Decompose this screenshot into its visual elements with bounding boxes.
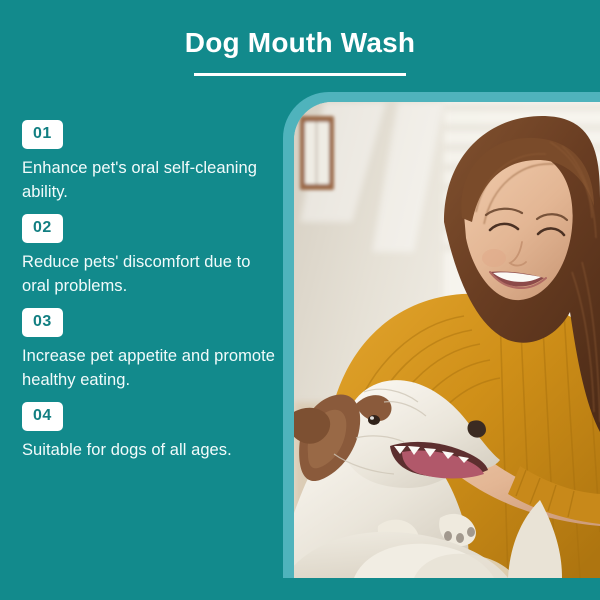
list-item: 01 Enhance pet's oral self-cleaning abil… bbox=[22, 120, 280, 205]
title-block: Dog Mouth Wash bbox=[0, 26, 600, 76]
feature-number-badge: 01 bbox=[22, 120, 63, 149]
photo-illustration bbox=[294, 102, 600, 578]
title-underline-divider bbox=[194, 73, 406, 76]
poster-root: Dog Mouth Wash 01 Enhance pet's oral sel… bbox=[0, 0, 600, 600]
feature-number-badge: 04 bbox=[22, 402, 63, 431]
list-item: 03 Increase pet appetite and promote hea… bbox=[22, 308, 280, 393]
feature-number-badge: 03 bbox=[22, 308, 63, 337]
feature-description: Suitable for dogs of all ages. bbox=[22, 439, 280, 463]
feature-description: Increase pet appetite and promote health… bbox=[22, 345, 280, 393]
list-item: 02 Reduce pets' discomfort due to oral p… bbox=[22, 214, 280, 299]
product-photo-frame bbox=[283, 92, 600, 578]
feature-description: Enhance pet's oral self-cleaning ability… bbox=[22, 157, 280, 205]
feature-description: Reduce pets' discomfort due to oral prob… bbox=[22, 251, 280, 299]
feature-number-badge: 02 bbox=[22, 214, 63, 243]
page-title: Dog Mouth Wash bbox=[0, 26, 600, 60]
list-item: 04 Suitable for dogs of all ages. bbox=[22, 402, 280, 463]
product-photo bbox=[294, 102, 600, 578]
feature-list: 01 Enhance pet's oral self-cleaning abil… bbox=[22, 120, 280, 462]
